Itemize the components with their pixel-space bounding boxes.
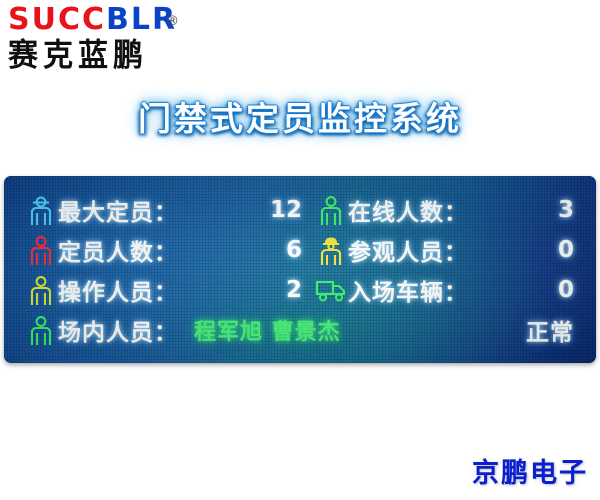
person-cap-icon <box>24 194 58 226</box>
table-row: 操作人员： 2 入场车辆： 0 <box>24 270 580 310</box>
led-display-panel: 最大定员： 12 在线人数： 3 <box>4 176 596 363</box>
led-rows-container: 最大定员： 12 在线人数： 3 <box>4 176 596 363</box>
person-helmet-icon <box>314 234 348 266</box>
led-label: 最大定员： <box>58 193 268 227</box>
brand-chinese-name: 赛克蓝鹏 <box>8 38 248 74</box>
led-cell-online-count: 在线人数： 3 <box>314 190 580 230</box>
table-row: 最大定员： 12 在线人数： 3 <box>24 190 580 230</box>
led-label: 操作人员： <box>58 273 268 307</box>
registered-trademark-icon: ® <box>166 6 181 38</box>
led-cell-assigned-count: 定员人数： 6 <box>24 230 314 270</box>
led-cell-max-capacity: 最大定员： 12 <box>24 190 314 230</box>
person-icon <box>24 234 58 266</box>
led-label: 参观人员： <box>348 233 540 267</box>
led-value: 12 <box>268 197 314 223</box>
page-title: 门禁式定员监控系统 <box>0 92 600 140</box>
led-value: 0 <box>540 277 580 303</box>
led-value: 2 <box>268 277 314 303</box>
table-row: 场内人员： 程军旭 曹景杰 正常 <box>24 310 580 350</box>
person-icon <box>24 274 58 306</box>
led-label: 在线人数： <box>348 193 540 227</box>
person-icon <box>24 314 58 346</box>
brand-logo: SUCCBLR ® 赛克蓝鹏 <box>8 4 248 76</box>
led-label: 定员人数： <box>58 233 268 267</box>
led-label: 入场车辆： <box>348 273 540 307</box>
table-row: 定员人数： 6 参观人员： <box>24 230 580 270</box>
led-value: 3 <box>540 197 580 223</box>
brand-wordmark-succ: SUCC <box>8 2 106 37</box>
led-value: 6 <box>268 237 314 263</box>
led-value: 0 <box>540 237 580 263</box>
led-cell-vehicle-count: 入场车辆： 0 <box>314 270 580 310</box>
led-cell-operator-count: 操作人员： 2 <box>24 270 314 310</box>
led-cell-visitor-count: 参观人员： 0 <box>314 230 580 270</box>
led-cell-onsite-personnel: 场内人员： 程军旭 曹景杰 正常 <box>24 310 580 350</box>
person-icon <box>314 194 348 226</box>
footer-company-logo: 京鹏电子 <box>472 451 588 490</box>
brand-wordmark: SUCCBLR ® <box>8 4 248 36</box>
onsite-personnel-names: 程军旭 曹景杰 <box>194 314 341 346</box>
status-badge: 正常 <box>526 313 580 347</box>
truck-icon <box>314 274 348 306</box>
led-label: 场内人员： <box>58 313 178 347</box>
